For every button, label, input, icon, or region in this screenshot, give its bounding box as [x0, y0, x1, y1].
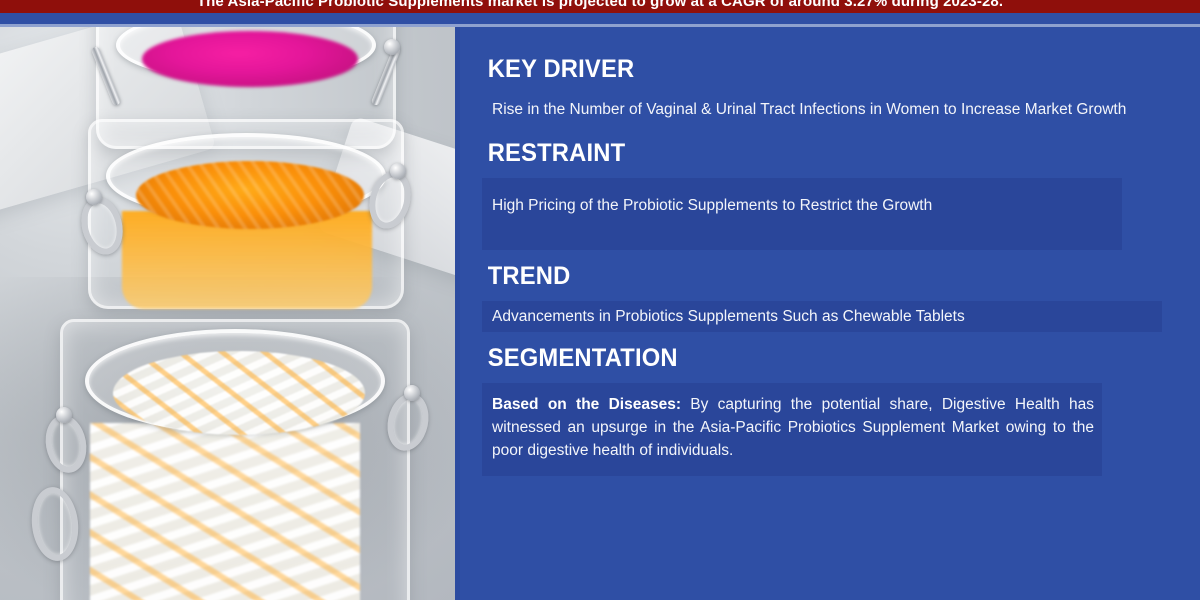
- jar-rim: [106, 133, 386, 219]
- jar-contents-carrot: [136, 161, 364, 229]
- segmentation-lead-label: Based on the Diseases:: [492, 396, 681, 413]
- infographic-canvas: The Asia-Pacific Probiotic Supplements m…: [0, 0, 1200, 600]
- section-body-key-driver: Rise in the Number of Vaginal & Urinal T…: [482, 94, 1152, 125]
- section-body-restraint: High Pricing of the Probiotic Supplement…: [482, 178, 1122, 250]
- jar-knob: [86, 189, 102, 205]
- content-panel: KEY DRIVER Rise in the Number of Vaginal…: [460, 27, 1200, 600]
- section-body-segmentation: Based on the Diseases: By capturing the …: [482, 383, 1102, 476]
- jar-rim: [85, 329, 385, 433]
- section-restraint: RESTRAINT High Pricing of the Probiotic …: [482, 139, 1162, 250]
- product-photo: [0, 27, 455, 600]
- jar-contents-magenta: [142, 31, 358, 87]
- section-title-key-driver: KEY DRIVER: [482, 55, 1128, 84]
- jar-orange-icon: [88, 119, 404, 309]
- top-banner-text: The Asia-Pacific Probiotic Supplements m…: [0, 0, 1200, 12]
- section-body-trend: Advancements in Probiotics Supplements S…: [482, 301, 1162, 332]
- section-trend: TREND Advancements in Probiotics Supplem…: [482, 262, 1162, 332]
- section-title-restraint: RESTRAINT: [482, 139, 1128, 168]
- section-segmentation: SEGMENTATION Based on the Diseases: By c…: [482, 344, 1162, 476]
- section-title-segmentation: SEGMENTATION: [482, 344, 1128, 373]
- jar-white-icon: [60, 319, 410, 600]
- jar-knob: [404, 385, 420, 401]
- jar-knob: [384, 39, 400, 55]
- jar-contents-cabbage: [113, 351, 365, 435]
- jar-knob: [390, 163, 406, 179]
- jar-knob: [56, 407, 72, 423]
- section-title-trend: TREND: [482, 262, 1128, 291]
- section-key-driver: KEY DRIVER Rise in the Number of Vaginal…: [482, 55, 1162, 125]
- jar-body-white: [90, 423, 360, 600]
- top-banner-red: The Asia-Pacific Probiotic Supplements m…: [0, 0, 1200, 13]
